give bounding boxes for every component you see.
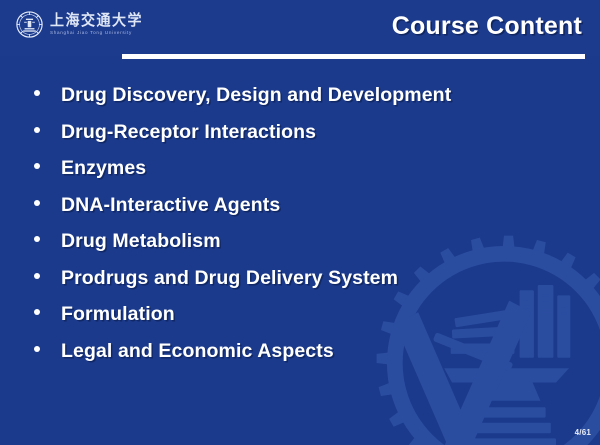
bullet-dot-icon [34, 236, 40, 242]
bullet-dot-icon [34, 163, 40, 169]
bullet-dot-icon [34, 90, 40, 96]
list-item: DNA-Interactive Agents [0, 194, 600, 231]
page-number: 4/61 [575, 428, 591, 437]
bullet-dot-icon [34, 346, 40, 352]
university-logo: 上海交通大学 Shanghai Jiao Tong University [16, 11, 143, 38]
bullet-dot-icon [34, 309, 40, 315]
bullet-dot-icon [34, 200, 40, 206]
list-item: Formulation [0, 303, 600, 340]
list-item-label: Prodrugs and Drug Delivery System [61, 267, 398, 290]
slide-header: 上海交通大学 Shanghai Jiao Tong University Cou… [0, 0, 600, 56]
bullet-list: Drug Discovery, Design and Development D… [0, 84, 600, 376]
slide: 上海交通大学 Shanghai Jiao Tong University Cou… [0, 0, 600, 445]
university-name-en: Shanghai Jiao Tong University [50, 31, 143, 36]
list-item: Prodrugs and Drug Delivery System [0, 267, 600, 304]
university-name-cn: 上海交通大学 [50, 13, 143, 28]
list-item: Enzymes [0, 157, 600, 194]
list-item: Drug Discovery, Design and Development [0, 84, 600, 121]
list-item: Drug Metabolism [0, 230, 600, 267]
university-seal-icon [16, 11, 43, 38]
university-wordmark: 上海交通大学 Shanghai Jiao Tong University [50, 14, 143, 36]
list-item: Legal and Economic Aspects [0, 340, 600, 377]
bullet-dot-icon [34, 127, 40, 133]
list-item-label: Legal and Economic Aspects [61, 340, 334, 363]
list-item-label: Drug Discovery, Design and Development [61, 84, 451, 107]
list-item-label: Formulation [61, 303, 175, 326]
list-item-label: Drug Metabolism [61, 230, 221, 253]
list-item-label: Drug-Receptor Interactions [61, 121, 316, 144]
list-item-label: Enzymes [61, 157, 146, 180]
bullet-dot-icon [34, 273, 40, 279]
slide-title: Course Content [392, 12, 582, 41]
title-divider-rule [122, 54, 585, 59]
list-item-label: DNA-Interactive Agents [61, 194, 280, 217]
list-item: Drug-Receptor Interactions [0, 121, 600, 158]
